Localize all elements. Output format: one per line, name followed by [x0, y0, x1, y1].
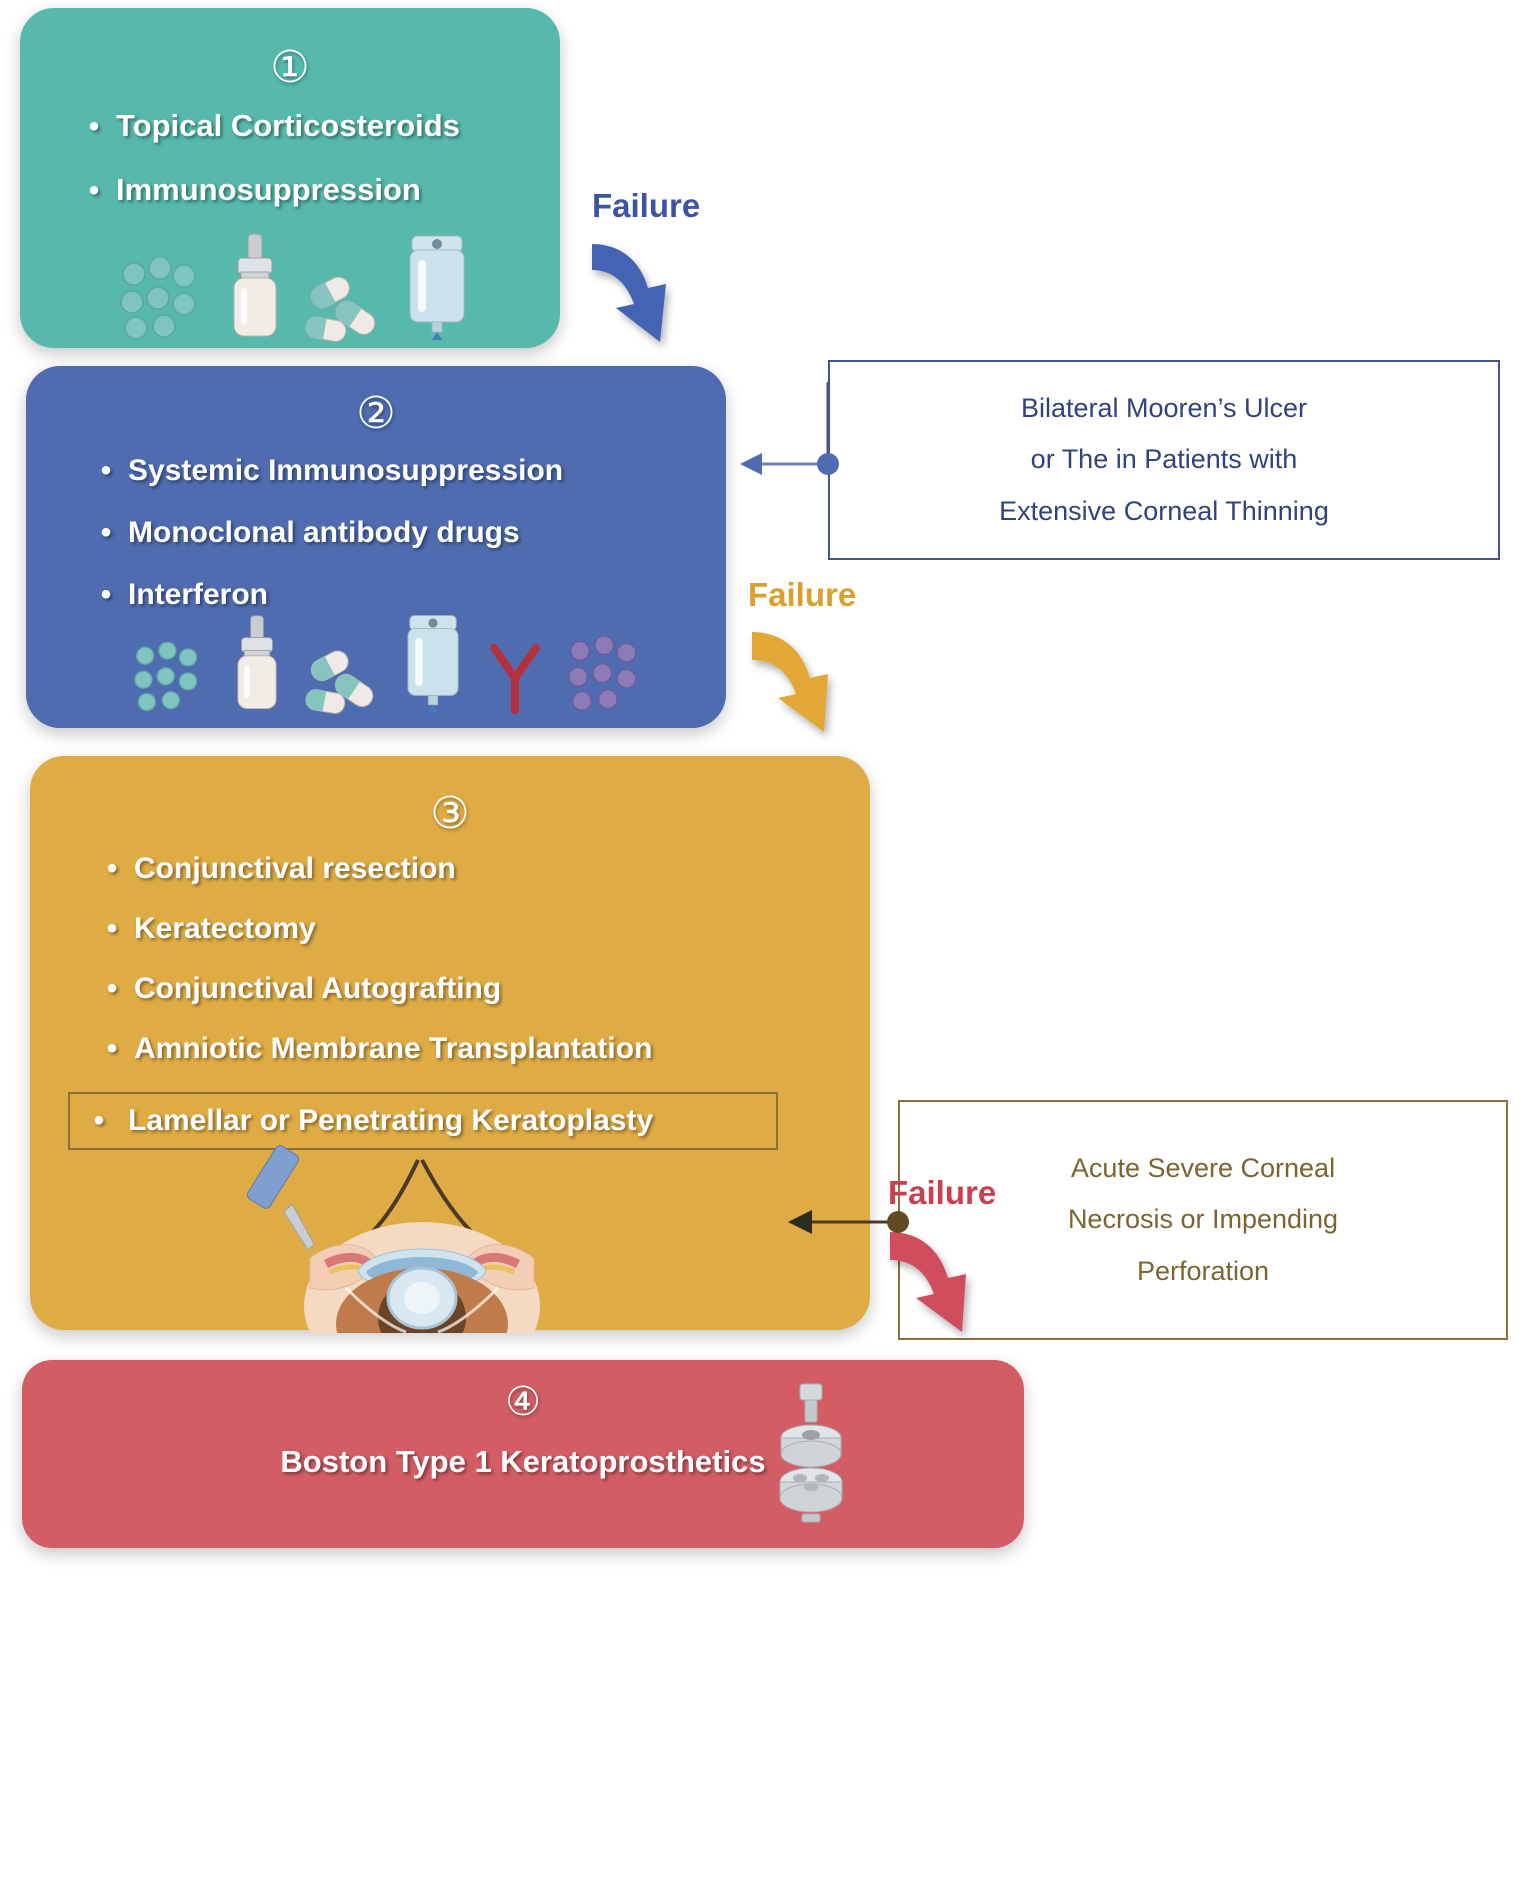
failure-arrow-orange: [752, 632, 828, 732]
callout-line: Perforation: [1137, 1246, 1269, 1297]
eye-drop-bottle-icon: [224, 232, 286, 342]
treatment-flowchart: ① •Topical Corticosteroids •Immunosuppre…: [0, 0, 1535, 1896]
list-item: •Topical Corticosteroids: [72, 108, 560, 144]
scalpel-icon: [246, 1144, 314, 1250]
callout-line: Bilateral Mooren’s Ulcer: [1021, 383, 1307, 434]
bullet-dot-icon: •: [90, 1032, 134, 1066]
capsules-icon: [304, 646, 382, 714]
bullet-dot-icon: •: [84, 578, 128, 612]
keratoprosthesis-device-icon: [768, 1380, 854, 1530]
bullet-label: Immunosuppression: [116, 172, 421, 208]
callout-line: Extensive Corneal Thinning: [999, 486, 1329, 537]
failure-label-3: Failure: [888, 1174, 996, 1212]
stage-4-box[interactable]: ④ Boston Type 1 Keratoprosthetics: [22, 1360, 1024, 1548]
bullet-label: Conjunctival Autografting: [134, 972, 501, 1006]
pills-cluster-icon: [120, 258, 206, 342]
bullet-label: Conjunctival resection: [134, 852, 456, 886]
bullet-dot-icon: •: [72, 110, 116, 144]
antibody-icon: [484, 640, 546, 714]
bullet-label: Systemic Immunosuppression: [128, 454, 563, 488]
bullet-dot-icon: •: [90, 912, 134, 946]
callout-bilateral-mooren-ulcer[interactable]: Bilateral Mooren’s Ulcer or The in Patie…: [828, 360, 1500, 560]
failure-label-2: Failure: [748, 576, 856, 614]
bullet-dot-icon: •: [90, 852, 134, 886]
stage-1-box[interactable]: ① •Topical Corticosteroids •Immunosuppre…: [20, 8, 560, 348]
bullet-dot-icon: •: [90, 972, 134, 1006]
bullet-label: Lamellar or Penetrating Keratoplasty: [128, 1104, 653, 1138]
stage-2-number: ②: [26, 392, 726, 436]
stage-1-bullet-list: •Topical Corticosteroids •Immunosuppress…: [20, 108, 560, 236]
list-item: •Conjunctival Autografting: [90, 972, 870, 1006]
stage-2-icon-row: [130, 610, 650, 714]
callout-line: Acute Severe Corneal: [1071, 1143, 1335, 1194]
bullet-label: Monoclonal antibody drugs: [128, 516, 520, 550]
connector-callout-blue: [740, 382, 839, 475]
eye-drop-bottle-icon: [228, 614, 286, 714]
list-item: •Keratectomy: [90, 912, 870, 946]
pills-cluster-icon: [130, 642, 210, 714]
failure-label-1: Failure: [592, 187, 700, 225]
bullet-label: Interferon: [128, 578, 268, 612]
bullet-dot-icon: •: [84, 516, 128, 550]
eye-surgery-illustration: [160, 1138, 680, 1333]
stage-4-number: ④: [22, 1382, 1024, 1422]
bullet-dot-icon: •: [84, 454, 128, 488]
stage-4-title: Boston Type 1 Keratoprosthetics: [22, 1444, 1024, 1480]
stage-1-number: ①: [20, 46, 560, 90]
callout-acute-severe-corneal-necrosis[interactable]: Acute Severe Corneal Necrosis or Impendi…: [898, 1100, 1508, 1340]
list-item: •Systemic Immunosuppression: [84, 454, 726, 488]
bullet-dot-icon: •: [70, 1104, 128, 1138]
failure-arrow-blue: [592, 244, 666, 342]
bullet-label: Topical Corticosteroids: [116, 108, 460, 144]
bullet-dot-icon: •: [72, 174, 116, 208]
stage-3-bullet-list: •Conjunctival resection •Keratectomy •Co…: [30, 852, 870, 1150]
list-item: •Conjunctival resection: [90, 852, 870, 886]
purple-pills-icon: [564, 636, 650, 714]
list-item: •Monoclonal antibody drugs: [84, 516, 726, 550]
capsules-icon: [304, 272, 384, 342]
list-item: •Amniotic Membrane Transplantation: [90, 1032, 870, 1066]
stage-3-number: ③: [30, 792, 870, 836]
list-item: •Interferon: [84, 578, 726, 612]
stage-1-icon-row: [120, 230, 472, 342]
bullet-label: Keratectomy: [134, 912, 316, 946]
stage-2-box[interactable]: ② •Systemic Immunosuppression •Monoclona…: [26, 366, 726, 728]
iv-bag-icon: [402, 230, 472, 342]
bullet-label: Amniotic Membrane Transplantation: [134, 1032, 652, 1066]
stage-3-box[interactable]: ③ •Conjunctival resection •Keratectomy •…: [30, 756, 870, 1330]
callout-line: or The in Patients with: [1031, 434, 1298, 485]
list-item: •Immunosuppression: [72, 172, 560, 208]
callout-line: Necrosis or Impending: [1068, 1194, 1338, 1245]
iv-bag-icon: [400, 610, 466, 714]
